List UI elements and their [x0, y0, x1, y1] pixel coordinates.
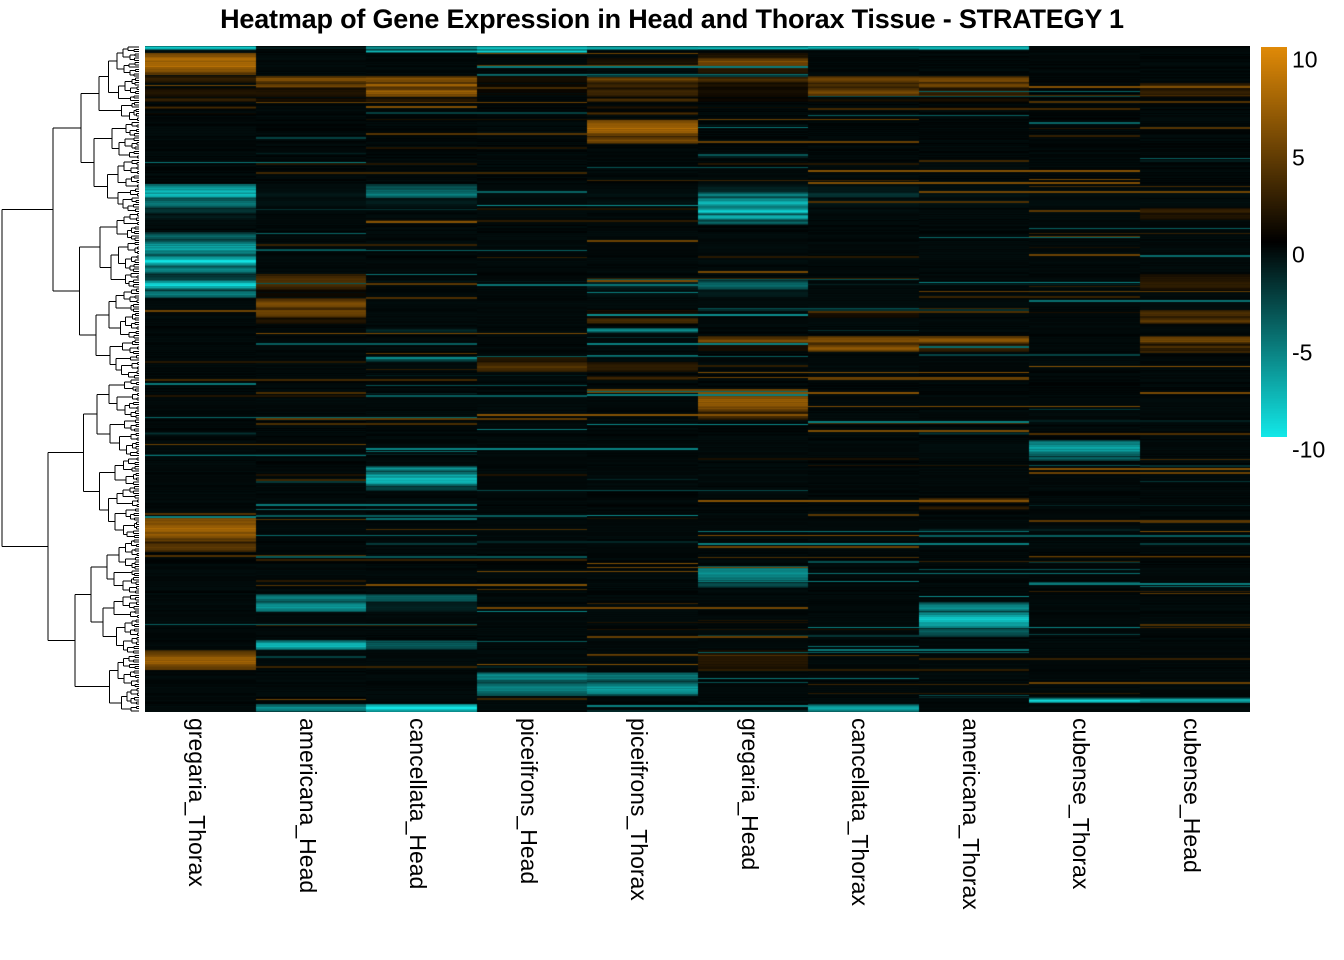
row-dendrogram [0, 46, 145, 712]
column-label-cubense-thorax: cubense_Thorax [1067, 718, 1094, 889]
column-label-gregaria-thorax: gregaria_Thorax [183, 718, 210, 887]
column-label-piceifrons-thorax: piceifrons_Thorax [625, 718, 652, 901]
column-label-gregaria-head: gregaria_Head [736, 718, 763, 870]
column-label-americana-thorax: americana_Thorax [957, 718, 984, 910]
row-dendrogram-svg [0, 46, 145, 712]
colorbar-tick-5: 5 [1292, 144, 1305, 171]
colorbar-tick-0: 0 [1292, 242, 1305, 269]
column-label-cubense-head: cubense_Head [1178, 718, 1205, 873]
heatmap-canvas [145, 46, 1250, 712]
colorbar-tick-neg5: -5 [1292, 339, 1312, 366]
colorbar-gradient [1261, 47, 1287, 437]
heatmap-figure: Heatmap of Gene Expression in Head and T… [0, 0, 1344, 960]
colorbar [1261, 47, 1287, 437]
column-label-piceifrons-head: piceifrons_Head [515, 718, 542, 884]
heatmap-grid [145, 46, 1250, 712]
dendrogram-branches [2, 47, 139, 711]
colorbar-tick-10: 10 [1292, 47, 1318, 74]
column-label-cancellata-thorax: cancellata_Thorax [846, 718, 873, 906]
page-title: Heatmap of Gene Expression in Head and T… [0, 4, 1344, 35]
colorbar-tick-neg10: -10 [1292, 437, 1325, 464]
column-label-americana-head: americana_Head [294, 718, 321, 893]
column-label-cancellata-head: cancellata_Head [404, 718, 431, 889]
